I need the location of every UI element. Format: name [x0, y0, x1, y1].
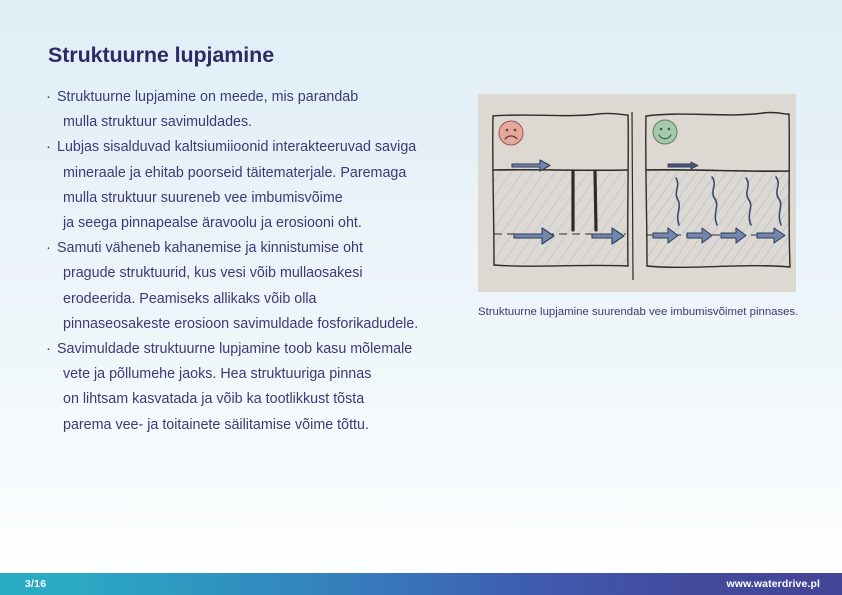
- bullet-line: vete ja põllumehe jaoks. Hea struktuurig…: [46, 362, 471, 387]
- bullet-line: Samuti väheneb kahanemise ja kinnistumis…: [46, 236, 471, 261]
- bullet-line: Struktuurne lupjamine on meede, mis para…: [46, 85, 471, 110]
- bullet-item: Samuti väheneb kahanemise ja kinnistumis…: [46, 236, 471, 337]
- bullet-item: Savimuldade struktuurne lupjamine toob k…: [46, 337, 471, 438]
- bullet-line: mineraale ja ehitab poorseid täitematerj…: [46, 161, 471, 186]
- figure-image: [478, 94, 796, 292]
- website-url[interactable]: www.waterdrive.pl: [726, 578, 820, 590]
- bullet-line: Savimuldade struktuurne lupjamine toob k…: [46, 337, 471, 362]
- page-title: Struktuurne lupjamine: [48, 43, 274, 68]
- bullet-list: Struktuurne lupjamine on meede, mis para…: [46, 85, 471, 438]
- bullet-line: mulla struktuur savimuldades.: [46, 110, 471, 135]
- figure-caption: Struktuurne lupjamine suurendab vee imbu…: [478, 306, 818, 318]
- bullet-item: Struktuurne lupjamine on meede, mis para…: [46, 85, 471, 135]
- bullet-line: ja seega pinnapealse äravoolu ja erosioo…: [46, 211, 471, 236]
- soil-infiltration-diagram: [478, 94, 796, 292]
- bullet-line: erodeerida. Peamiseks allikaks võib olla: [46, 287, 471, 312]
- bullet-line: Lubjas sisalduvad kaltsiumiioonid intera…: [46, 135, 471, 160]
- bullet-line: pragude struktuurid, kus vesi võib mulla…: [46, 261, 471, 286]
- bullet-item: Lubjas sisalduvad kaltsiumiioonid intera…: [46, 135, 471, 236]
- bullet-line: on lihtsam kasvatada ja võib ka tootlikk…: [46, 387, 471, 412]
- page-number: 3/16: [25, 578, 46, 590]
- bullet-line: parema vee- ja toitainete säilitamise võ…: [46, 413, 471, 438]
- bullet-line: mulla struktuur suureneb vee imbumisvõim…: [46, 186, 471, 211]
- bullet-line: pinnaseosakeste erosioon savimuldade fos…: [46, 312, 471, 337]
- slide-footer: 3/16 www.waterdrive.pl: [0, 573, 842, 595]
- slide: Struktuurne lupjamine Struktuurne lupjam…: [0, 0, 842, 595]
